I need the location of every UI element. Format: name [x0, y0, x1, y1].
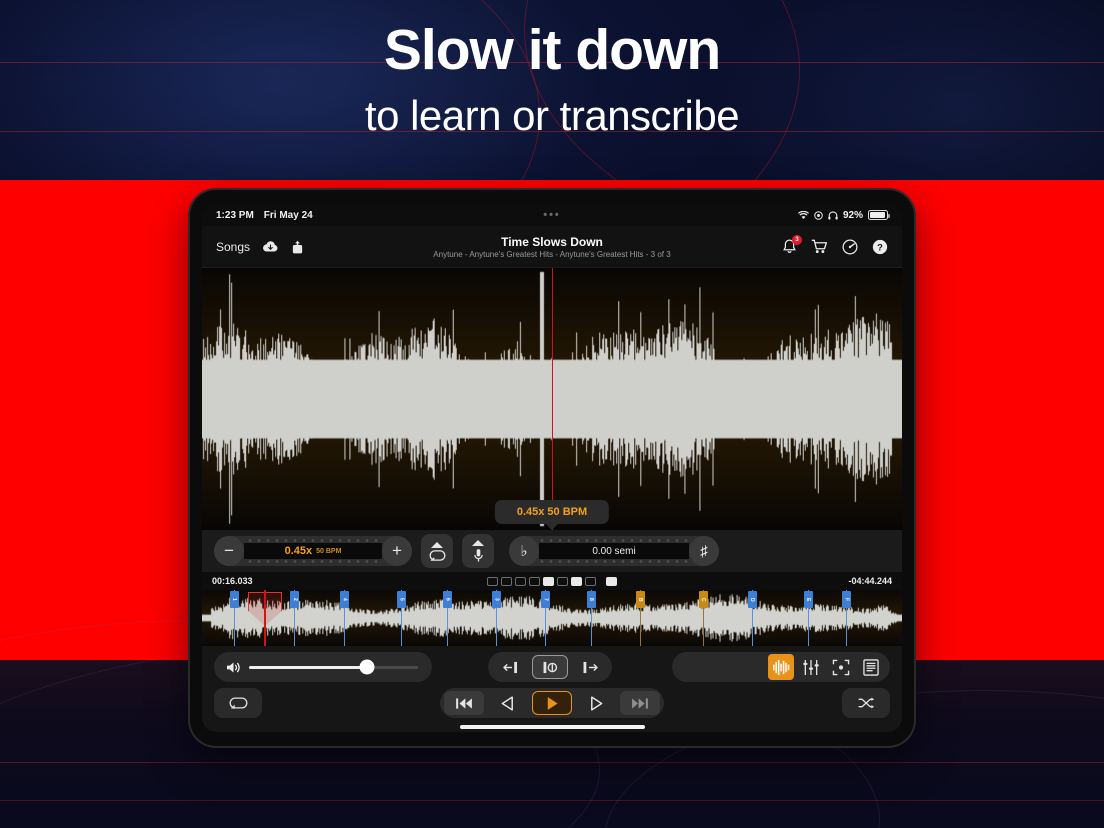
play-toggle-icon[interactable]: [501, 577, 512, 586]
overview-marker[interactable]: 8: [591, 590, 592, 646]
pitch-flat-button[interactable]: ♭: [509, 536, 539, 566]
volume-control[interactable]: [214, 652, 432, 682]
overview-marker-label: 3: [492, 591, 501, 608]
chevron-up-icon: [431, 542, 443, 548]
bell-icon[interactable]: 3: [782, 239, 797, 255]
cloud-download-icon[interactable]: [262, 240, 279, 253]
overview-marker-label: 5: [397, 591, 406, 608]
bottom-row-upper: [214, 652, 890, 682]
overview-marker[interactable]: C: [703, 590, 704, 646]
overview-marker-label: 8: [587, 591, 596, 608]
overview-marker[interactable]: 6: [447, 590, 448, 646]
loop-center-button[interactable]: [532, 655, 568, 679]
home-indicator[interactable]: [460, 725, 645, 729]
elapsed-time: 00:16.033: [212, 576, 253, 586]
remaining-time: -04:44.244: [848, 576, 892, 586]
tempo-rate-value: 0.45x: [285, 545, 313, 557]
overview-marker[interactable]: 3: [496, 590, 497, 646]
overview-marker-label: 7: [541, 591, 550, 608]
headline-primary: Slow it down: [0, 18, 1104, 84]
overview-marker[interactable]: 2: [294, 590, 295, 646]
tempo-decrease-button[interactable]: −: [214, 536, 244, 566]
tempo-bpm-value: 50 BPM: [316, 548, 341, 555]
chevron-up-icon: [472, 540, 484, 546]
eq-toggle-icon[interactable]: [543, 577, 554, 586]
location-icon: [814, 211, 823, 220]
overview-marker-label: B: [636, 591, 645, 608]
headphones-icon: [828, 211, 838, 220]
overview-marker[interactable]: E: [808, 590, 809, 646]
cart-icon[interactable]: [811, 239, 828, 254]
loop-toggle-icon[interactable]: [487, 577, 498, 586]
back-to-songs-button[interactable]: Songs: [216, 240, 250, 254]
tempo-tooltip: 0.45x 50 BPM: [495, 500, 609, 524]
overview-marker-label: E: [804, 591, 813, 608]
overview-marker[interactable]: 1: [234, 590, 235, 646]
battery-percent: 92%: [843, 210, 863, 221]
share-icon[interactable]: [291, 240, 304, 254]
shuffle-button[interactable]: [842, 688, 890, 718]
tempo-value-display: 0.45x 50 BPM: [244, 543, 382, 559]
headline-secondary: to learn or transcribe: [0, 92, 1104, 140]
overview-marker[interactable]: 4: [344, 590, 345, 646]
svg-text:?: ?: [877, 241, 883, 252]
ipad-device-frame: 1:23 PM Fri May 24 ••• 92% Songs: [190, 190, 914, 746]
wifi-icon: [798, 211, 809, 220]
ios-status-bar: 1:23 PM Fri May 24 ••• 92%: [202, 204, 902, 226]
app-screen: 1:23 PM Fri May 24 ••• 92% Songs: [202, 204, 902, 732]
loop-toggle-button[interactable]: [214, 688, 262, 718]
square-toggle-icon[interactable]: [557, 577, 568, 586]
overview-marker[interactable]: 7: [545, 590, 546, 646]
tempo-increase-button[interactable]: +: [382, 536, 412, 566]
overview-playhead[interactable]: [264, 590, 266, 646]
overview-waveform[interactable]: 12345678BCDEF: [202, 590, 902, 646]
main-waveform-display[interactable]: 0.45x 50 BPM: [202, 268, 902, 530]
help-icon[interactable]: ?: [872, 239, 888, 255]
overview-marker-label: 4: [340, 591, 349, 608]
pitch-dot-row-bottom: [539, 559, 689, 564]
overview-marker-label: 1: [230, 591, 239, 608]
skip-back-button[interactable]: [444, 691, 484, 715]
tempo-dot-row-bottom: [244, 559, 382, 564]
shuffle-toggle-icon[interactable]: [515, 577, 526, 586]
overview-marker[interactable]: D: [752, 590, 753, 646]
selection-view-button[interactable]: [828, 654, 854, 680]
mini-toggle-icon-row: [202, 577, 902, 586]
overview-marker-label: 6: [443, 591, 452, 608]
overview-marker[interactable]: 5: [401, 590, 402, 646]
speaker-icon: [226, 661, 241, 674]
loop-mode-button[interactable]: [421, 534, 453, 568]
playhead-marker[interactable]: [552, 268, 553, 530]
grid-toggle-icon[interactable]: [585, 577, 596, 586]
overview-marker-label: D: [748, 591, 757, 608]
loop-in-button[interactable]: [492, 655, 528, 679]
pitch-sharp-button[interactable]: ♯: [689, 536, 719, 566]
bottom-controls: [202, 646, 902, 722]
pitch-control-group: ♭ 0.00 semi ♯: [509, 536, 719, 566]
transport-controls: [440, 688, 664, 718]
tempo-slider-field[interactable]: 0.45x 50 BPM: [244, 536, 382, 566]
overview-marker-label: C: [699, 591, 708, 608]
list-view-button[interactable]: [858, 654, 884, 680]
speedometer-icon[interactable]: [842, 239, 858, 255]
app-toolbar: Songs Time Slows Down Anytune - Anytune'…: [202, 226, 902, 268]
play-button[interactable]: [532, 691, 572, 715]
overview-marker-label: F: [842, 591, 851, 608]
step-back-button[interactable]: [488, 691, 528, 715]
pitch-slider-field[interactable]: 0.00 semi: [539, 536, 689, 566]
overview-marker[interactable]: F: [846, 590, 847, 646]
pitch-value: 0.00 semi: [592, 546, 635, 557]
overview-waveform-canvas[interactable]: [202, 590, 902, 646]
step-forward-button[interactable]: [576, 691, 616, 715]
marker-toggle-icon[interactable]: [529, 577, 540, 586]
microphone-icon: [473, 548, 484, 563]
note-toggle-icon[interactable]: [606, 577, 617, 586]
notification-badge: 3: [792, 235, 802, 245]
view-mode-bar: [672, 652, 890, 682]
mixer-view-button[interactable]: [798, 654, 824, 680]
volume-knob[interactable]: [360, 660, 375, 675]
volume-fill: [249, 666, 367, 669]
waveform-view-button[interactable]: [768, 654, 794, 680]
mic-toggle-icon[interactable]: [571, 577, 582, 586]
time-info-row: 00:16.033 -04:44.244: [202, 572, 902, 590]
loop-out-button[interactable]: [572, 655, 608, 679]
home-indicator-area: [202, 722, 902, 732]
promo-headline: Slow it down to learn or transcribe: [0, 18, 1104, 140]
overview-marker-label: 2: [290, 591, 299, 608]
overview-marker[interactable]: B: [640, 590, 641, 646]
battery-icon: [868, 210, 888, 220]
mic-mode-button[interactable]: [462, 534, 494, 568]
skip-forward-button[interactable]: [620, 691, 660, 715]
status-date: Fri May 24: [264, 210, 313, 221]
bottom-row-lower: [214, 688, 890, 718]
tempo-pitch-control-strip: − 0.45x 50 BPM + ♭: [202, 530, 902, 572]
pitch-value-display: 0.00 semi: [539, 543, 689, 559]
loop-segment-control: [488, 652, 612, 682]
status-time: 1:23 PM: [216, 210, 254, 221]
volume-slider[interactable]: [249, 666, 418, 669]
tempo-control-group: − 0.45x 50 BPM +: [214, 536, 412, 566]
loop-icon: [429, 550, 446, 561]
